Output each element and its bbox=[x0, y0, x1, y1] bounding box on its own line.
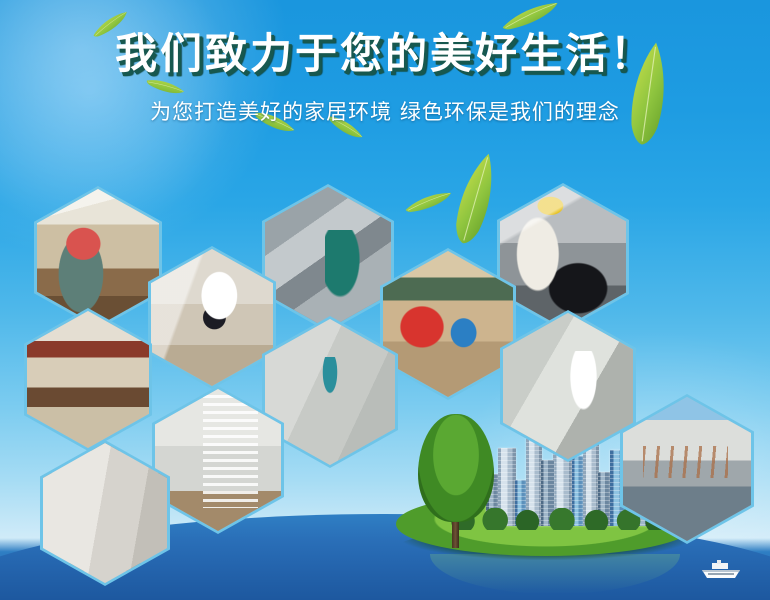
subline-container: 为您打造美好的家居环境 绿色环保是我们的理念 bbox=[0, 96, 770, 126]
hex-mopstair-frame bbox=[151, 249, 273, 386]
hex-handrail[interactable] bbox=[24, 308, 152, 451]
hex-duct[interactable] bbox=[262, 184, 394, 332]
hex-handrail-frame bbox=[27, 311, 149, 448]
headline-container: 我们致力于您的美好生活！ bbox=[0, 32, 770, 77]
page-subtitle: 为您打造美好的家居环境 绿色环保是我们的理念 bbox=[150, 96, 620, 126]
hex-floorclean[interactable] bbox=[500, 310, 636, 462]
hex-handrail-photo bbox=[27, 311, 149, 448]
hex-floorclean-frame bbox=[503, 313, 633, 459]
leaf-mid-small-icon bbox=[402, 188, 455, 218]
hex-duct-frame bbox=[265, 187, 391, 329]
hex-hood-frame bbox=[500, 186, 626, 328]
hex-carpet-photo bbox=[383, 251, 513, 397]
hex-demolition-photo bbox=[37, 189, 159, 326]
tree-crown bbox=[418, 414, 494, 522]
hex-carpet[interactable] bbox=[380, 248, 516, 400]
hex-hood-photo bbox=[500, 186, 626, 328]
promo-banner: 我们致力于您的美好生活！ 为您打造美好的家居环境 绿色环保是我们的理念 bbox=[0, 0, 770, 600]
hex-demolition-frame bbox=[37, 189, 159, 326]
hex-rope-photo bbox=[265, 319, 395, 465]
boat-icon bbox=[700, 560, 742, 580]
hex-hood[interactable] bbox=[497, 183, 629, 331]
page-title: 我们致力于您的美好生活！ bbox=[115, 32, 655, 77]
hex-mopstair[interactable] bbox=[148, 246, 276, 389]
hex-floorclean-photo bbox=[503, 313, 633, 459]
hex-duct-photo bbox=[265, 187, 391, 329]
hex-mopstair-photo bbox=[151, 249, 273, 386]
hex-carpet-frame bbox=[383, 251, 513, 397]
hex-rope-frame bbox=[265, 319, 395, 465]
hex-demolition[interactable] bbox=[34, 186, 162, 329]
